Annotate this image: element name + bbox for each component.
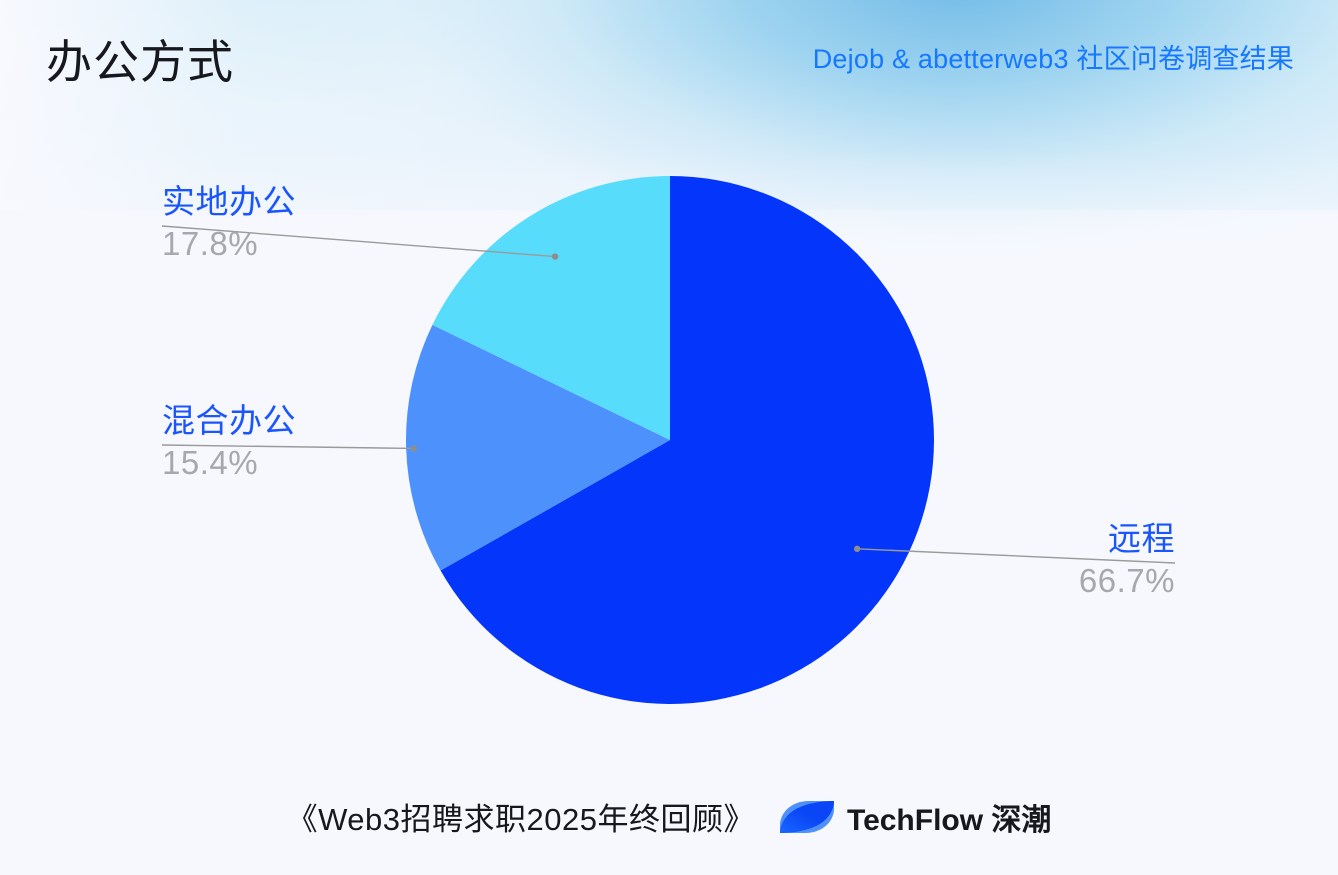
slide-root: 办公方式 Dejob & abetterweb3 社区问卷调查结果 实地办公 1… xyxy=(0,0,1338,875)
techflow-leaf-icon xyxy=(779,800,835,834)
callout-value: 66.7% xyxy=(1079,560,1175,602)
brand-lockup: TechFlow 深潮 xyxy=(779,795,1051,839)
callout-hunhe-bangong: 混合办公 15.4% xyxy=(162,401,296,484)
page-title: 办公方式 xyxy=(46,35,234,89)
callout-label: 混合办公 xyxy=(162,401,296,442)
callout-yuancheng: 远程 66.7% xyxy=(1079,519,1175,602)
callout-label: 远程 xyxy=(1079,519,1175,560)
callout-value: 17.8% xyxy=(162,223,296,265)
footer: 《Web3招聘求职2025年终回顾》 TechFlow 深潮 xyxy=(0,794,1338,839)
callout-label: 实地办公 xyxy=(162,182,296,223)
callout-value: 15.4% xyxy=(162,442,296,484)
header-survey-note: Dejob & abetterweb3 社区问卷调查结果 xyxy=(813,43,1294,77)
brand-name: TechFlow 深潮 xyxy=(847,795,1051,839)
callout-shidi-bangong: 实地办公 17.8% xyxy=(162,182,296,265)
report-title: 《Web3招聘求职2025年终回顾》 xyxy=(287,794,755,839)
